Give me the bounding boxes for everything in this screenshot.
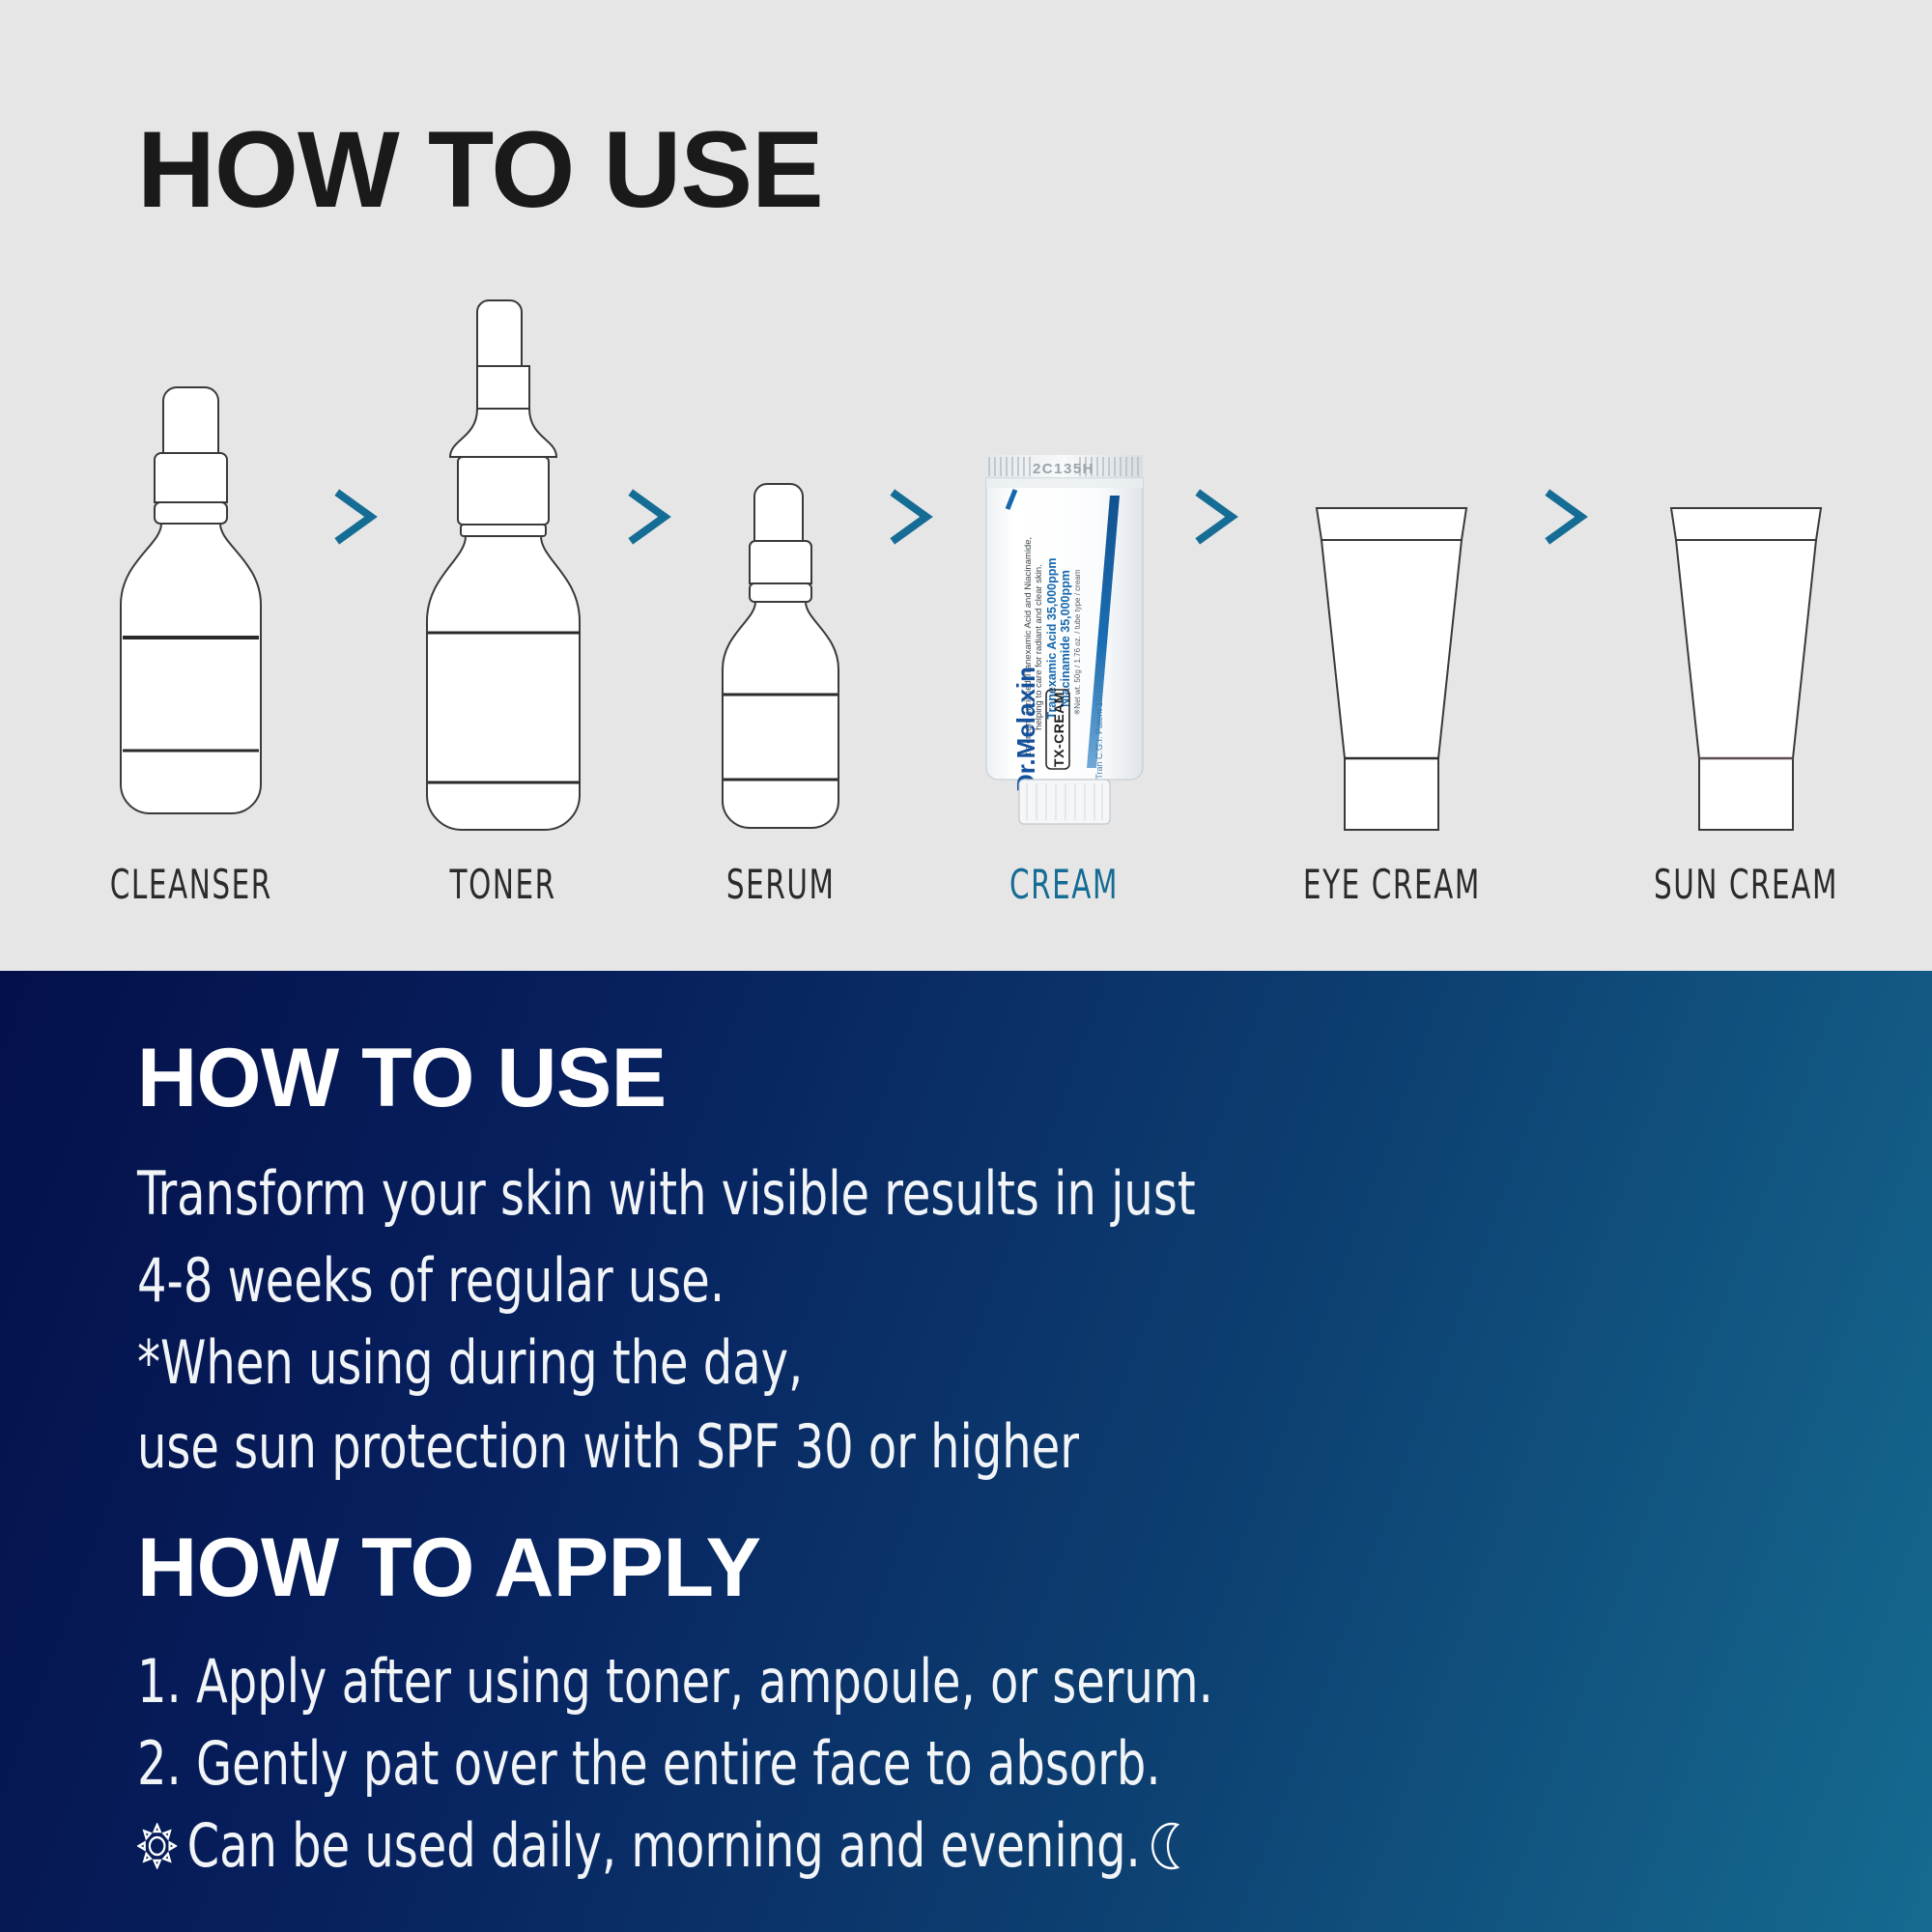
step-label-serum: SERUM: [726, 861, 836, 908]
squeeze-tube-icon-eye: [1307, 295, 1476, 836]
chevron-right-icon-1: [334, 489, 379, 545]
step-serum[interactable]: SERUM: [711, 290, 850, 908]
tube-batch-code: 2C135H: [1033, 461, 1094, 477]
tube-brand: Dr.Melaxin: [1011, 667, 1040, 792]
toner-bottle-icon: [417, 295, 589, 836]
apply-step-2-text: 2. Gently pat over the entire face to ab…: [137, 1734, 1161, 1794]
step-label-cream: CREAM: [1009, 861, 1119, 908]
chevron-right-icon-2: [628, 489, 672, 545]
sun-icon: [137, 1823, 177, 1869]
how-to-use-line-3: *When using during the day,: [137, 1333, 803, 1393]
how-to-use-line-4: use sun protection with SPF 30 or higher: [137, 1417, 1079, 1477]
moon-icon: [1151, 1822, 1189, 1870]
apply-step-1-text: 1. Apply after using toner, ampoule, or …: [137, 1652, 1213, 1712]
how-to-apply-heading: HOW TO APPLY: [137, 1526, 760, 1609]
chevron-right-icon-4: [1195, 489, 1239, 545]
step-label-toner: TONER: [450, 861, 556, 908]
tube-patent: Tran C.G.I. Patent 10-1848887: [1094, 660, 1104, 779]
dropper-bottle-large-icon: [101, 295, 280, 836]
apply-step-2: 2. Gently pat over the entire face to ab…: [137, 1734, 1161, 1794]
squeeze-tube-icon-sun: [1662, 295, 1831, 836]
apply-step-3-text: Can be used daily, morning and evening.: [187, 1816, 1141, 1876]
how-to-use-heading: HOW TO USE: [137, 1037, 667, 1120]
apply-step-1: 1. Apply after using toner, ampoule, or …: [137, 1652, 1213, 1712]
instructions-section: HOW TO USE Transform your skin with visi…: [0, 971, 1932, 1932]
tube-product-name: TX-CREAM: [1051, 692, 1066, 767]
tube-active-2: Niacinamide 35,000ppm: [1059, 570, 1072, 707]
chevron-right-icon-5: [1545, 489, 1589, 545]
cream-tube-product-icon: 2C135H It's cream enriched Tranexamic Ac…: [973, 295, 1156, 836]
page-title: HOW TO USE: [137, 116, 823, 224]
dropper-bottle-small-icon: [713, 295, 848, 836]
step-eye-cream[interactable]: EYE CREAM: [1278, 290, 1506, 908]
step-cleanser[interactable]: CLEANSER: [87, 290, 296, 908]
step-cream[interactable]: 2C135H It's cream enriched Tranexamic Ac…: [973, 290, 1156, 908]
step-toner[interactable]: TONER: [417, 290, 589, 908]
how-to-use-line-2: 4-8 weeks of regular use.: [137, 1251, 724, 1311]
step-sun-cream[interactable]: SUN CREAM: [1628, 290, 1864, 908]
tube-net-weight: ※Net wt. 50g / 1.76 oz. / tube type / cr…: [1073, 569, 1082, 715]
infographic-page: HOW TO USE CLEANSER: [0, 0, 1932, 1932]
step-label-eye-cream: EYE CREAM: [1303, 861, 1481, 908]
how-to-use-steps-section: HOW TO USE CLEANSER: [0, 0, 1932, 971]
step-label-sun-cream: SUN CREAM: [1654, 861, 1838, 908]
how-to-use-line-1: Transform your skin with visible results…: [137, 1164, 1196, 1224]
routine-steps-row: CLEANSER: [87, 290, 1864, 908]
apply-step-3: Can be used daily, morning and evening.: [137, 1816, 1189, 1876]
step-label-cleanser: CLEANSER: [110, 861, 272, 908]
chevron-right-icon-3: [890, 489, 934, 545]
